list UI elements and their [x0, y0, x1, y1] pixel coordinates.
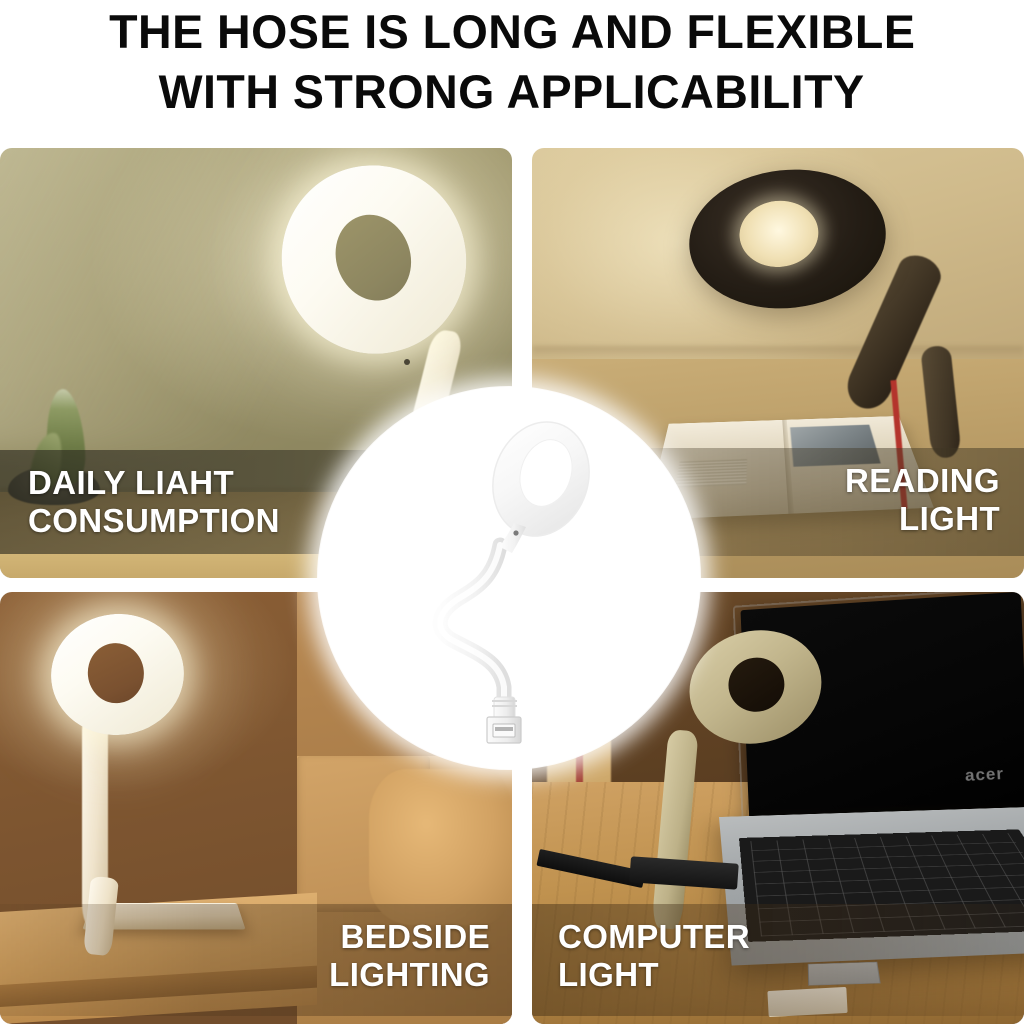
- headline-line-1: THE HOSE IS LONG AND FLEXIBLE: [109, 2, 915, 62]
- laptop-touchpad: [807, 962, 880, 986]
- ring-lamp-head: [45, 607, 190, 741]
- ring-lamp-stem: [500, 523, 526, 553]
- usb-contacts: [495, 727, 513, 731]
- product-hero-circle: [318, 387, 700, 769]
- usb-cable-white: [768, 987, 848, 1017]
- pillow: [369, 769, 512, 925]
- headline-block: THE HOSE IS LONG AND FLEXIBLE WITH STRON…: [0, 0, 1024, 140]
- laptop-brand-logo: acer: [965, 764, 1005, 786]
- lamp-power-button-icon: [513, 530, 518, 535]
- gooseneck-highlight: [440, 545, 504, 705]
- usb-collar-ridge-1: [492, 700, 517, 702]
- magazine-photo: [790, 425, 881, 467]
- laptop-keyboard: [739, 830, 1024, 942]
- ring-lamp-hole: [723, 652, 790, 718]
- usb-ring-lamp-illustration: [318, 387, 700, 769]
- ring-lamp-hole: [737, 197, 822, 271]
- usb-collar-ridge-2: [492, 705, 517, 707]
- laptop-keys: [750, 833, 1024, 936]
- headline-line-2: WITH STRONG APPLICABILITY: [159, 62, 865, 122]
